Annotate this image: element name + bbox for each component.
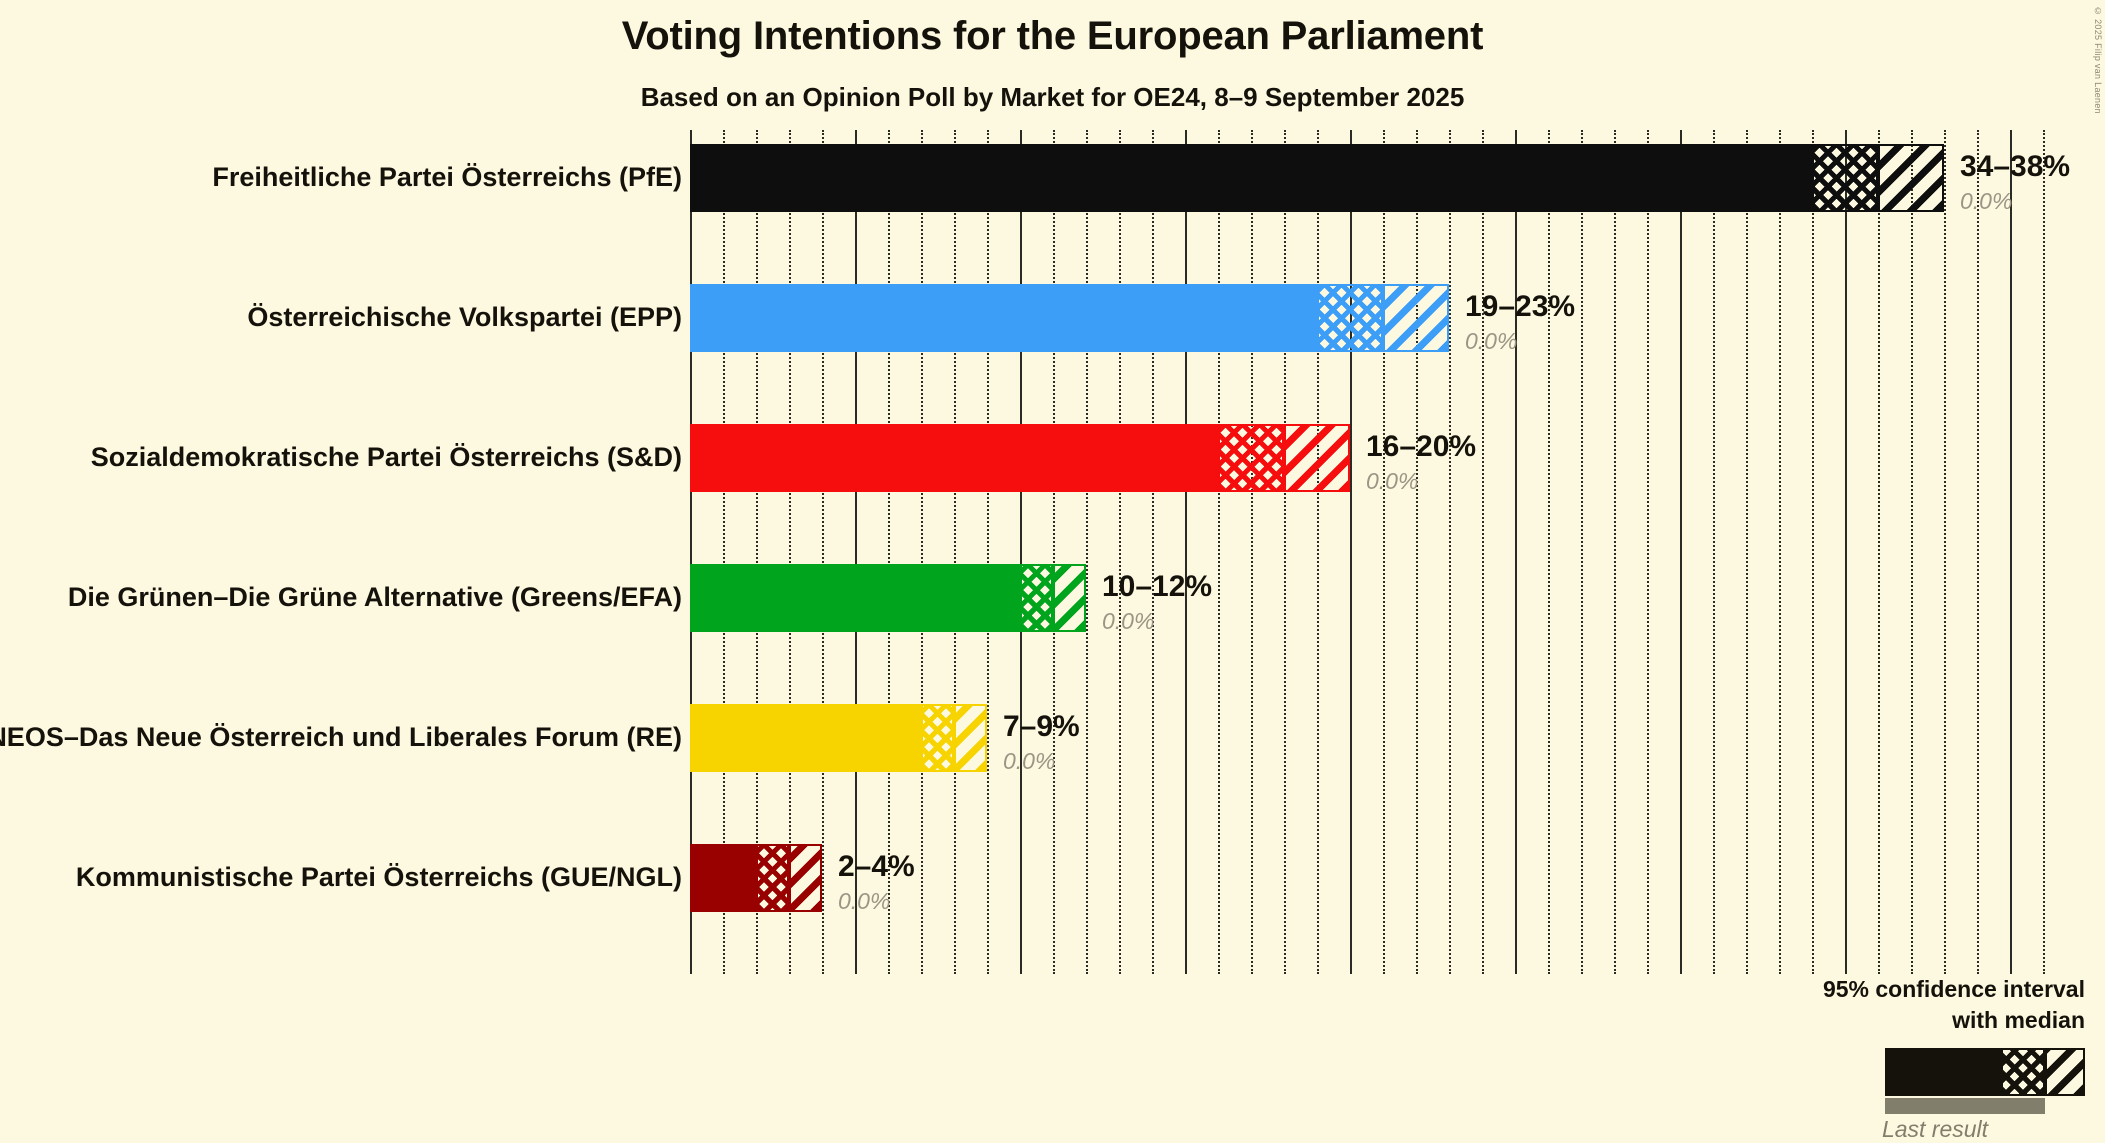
gridline-minor [1053,130,1055,974]
gridline-minor [1383,130,1385,974]
bar-segment-crosshatch [1218,424,1284,492]
category-label-0: Freiheitliche Partei Österreichs (PfE) [212,162,682,193]
legend-sample-bar [1885,1048,2085,1096]
last-result-label-4: 0.0% [1003,748,1055,775]
gridline-minor [1581,130,1583,974]
gridline-minor [2043,130,2045,974]
gridline-minor [888,130,890,974]
value-range-label-4: 7–9% [1003,710,1080,744]
gridline-major [1350,130,1352,974]
gridline-minor [1086,130,1088,974]
last-result-label-5: 0.0% [838,888,890,915]
bar-segment-diagonal [1284,424,1350,492]
legend-line-2: with median [1952,1007,2085,1033]
gridline-minor [1284,130,1286,974]
gridline-major [2010,130,2012,974]
bar-segment-diagonal [1878,144,1944,212]
bar-segment-diagonal [1053,564,1086,632]
bar-segment-diagonal [789,844,822,912]
page-title: Voting Intentions for the European Parli… [0,14,2105,59]
bar-4 [690,704,987,772]
gridline-major [1845,130,1847,974]
legend-segment-crosshatch [2001,1048,2045,1096]
gridline-minor [1812,130,1814,974]
gridline-minor [1152,130,1154,974]
legend-title: 95% confidence interval with median [1685,974,2085,1036]
value-range-label-3: 10–12% [1102,570,1212,604]
category-label-2: Sozialdemokratische Partei Österreichs (… [91,442,682,473]
gridline-minor [987,130,989,974]
gridline-major [1020,130,1022,974]
gridline-minor [1416,130,1418,974]
legend-last-result-label: Last result [1825,1116,2045,1143]
gridline-major [855,130,857,974]
bar-segment-solid [690,424,1218,492]
bar-3 [690,564,1086,632]
value-range-label-0: 34–38% [1960,150,2070,184]
bar-0 [690,144,1944,212]
bar-segment-crosshatch [756,844,789,912]
bar-segment-crosshatch [1317,284,1383,352]
last-result-label-3: 0.0% [1102,608,1154,635]
bar-segment-solid [690,284,1317,352]
gridline-major [1185,130,1187,974]
bar-segment-solid [690,564,1020,632]
gridline-minor [1746,130,1748,974]
chart-subtitle: Based on an Opinion Poll by Market for O… [0,82,2105,113]
bar-segment-solid [690,704,921,772]
bar-segment-crosshatch [921,704,954,772]
gridline-minor [954,130,956,974]
bar-segment-solid [690,844,756,912]
gridline-minor [1482,130,1484,974]
gridline-minor [1614,130,1616,974]
legend-last-result-swatch [1885,1098,2045,1114]
last-result-label-1: 0.0% [1465,328,1517,355]
gridline-minor [1251,130,1253,974]
value-range-label-2: 16–20% [1366,430,1476,464]
gridline-major [1680,130,1682,974]
bar-segment-crosshatch [1812,144,1878,212]
gridline-minor [1218,130,1220,974]
gridline-minor [1647,130,1649,974]
legend-line-1: 95% confidence interval [1823,976,2085,1002]
gridline-minor [1977,130,1979,974]
gridline-minor [822,130,824,974]
chart-root: Voting Intentions for the European Parli… [0,0,2105,974]
plot-area [690,130,2066,974]
legend-segment-solid [1885,1048,2001,1096]
gridline-major [1515,130,1517,974]
gridline-minor [1548,130,1550,974]
bar-segment-solid [690,144,1812,212]
category-label-5: Kommunistische Partei Österreichs (GUE/N… [76,862,682,893]
category-label-4: NEOS–Das Neue Österreich und Liberales F… [0,722,682,753]
bar-1 [690,284,1449,352]
category-label-3: Die Grünen–Die Grüne Alternative (Greens… [68,582,682,613]
gridline-minor [1779,130,1781,974]
gridline-minor [1713,130,1715,974]
bar-segment-diagonal [954,704,987,772]
last-result-label-0: 0.0% [1960,188,2012,215]
gridline-minor [1119,130,1121,974]
bar-2 [690,424,1350,492]
bar-5 [690,844,822,912]
gridline-minor [921,130,923,974]
legend-segment-diagonal [2045,1048,2085,1096]
bar-segment-crosshatch [1020,564,1053,632]
value-range-label-1: 19–23% [1465,290,1575,324]
bar-segment-diagonal [1383,284,1449,352]
value-range-label-5: 2–4% [838,850,915,884]
gridline-minor [1944,130,1946,974]
gridline-minor [1911,130,1913,974]
copyright-notice: © 2025 Filip van Laenen [2093,6,2103,114]
gridline-minor [1317,130,1319,974]
gridline-minor [1878,130,1880,974]
gridline-minor [1449,130,1451,974]
category-label-1: Österreichische Volkspartei (EPP) [247,302,682,333]
last-result-label-2: 0.0% [1366,468,1418,495]
